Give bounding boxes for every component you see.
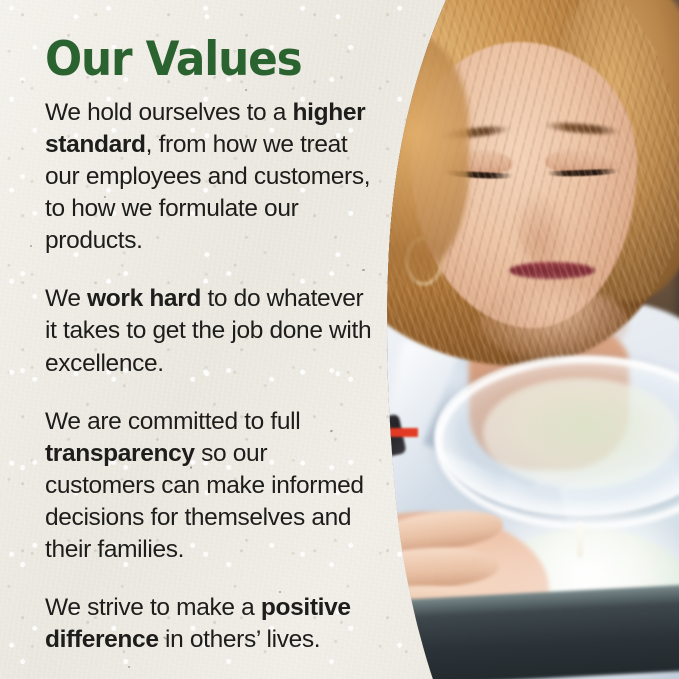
- page-title: Our Values: [45, 36, 352, 85]
- body-text: in others’ lives.: [159, 626, 321, 653]
- body-text: We: [45, 285, 87, 312]
- emphasis-text: transparency: [45, 440, 195, 467]
- values-paragraph: We hold ourselves to a higher standard, …: [45, 97, 375, 257]
- values-paragraph: We work hard to do whatever it takes to …: [45, 283, 375, 379]
- values-text-column: Our Values We hold ourselves to a higher…: [45, 36, 375, 656]
- body-text: We are committed to full: [45, 408, 300, 435]
- values-paragraph: We strive to make a positive difference …: [45, 592, 375, 656]
- body-text: We hold ourselves to a: [45, 99, 293, 126]
- values-paragraph: We are committed to full transparency so…: [45, 406, 375, 566]
- values-panel: Our Values We hold ourselves to a higher…: [0, 0, 679, 679]
- body-text: We strive to make a: [45, 594, 261, 621]
- emphasis-text: work hard: [87, 285, 201, 312]
